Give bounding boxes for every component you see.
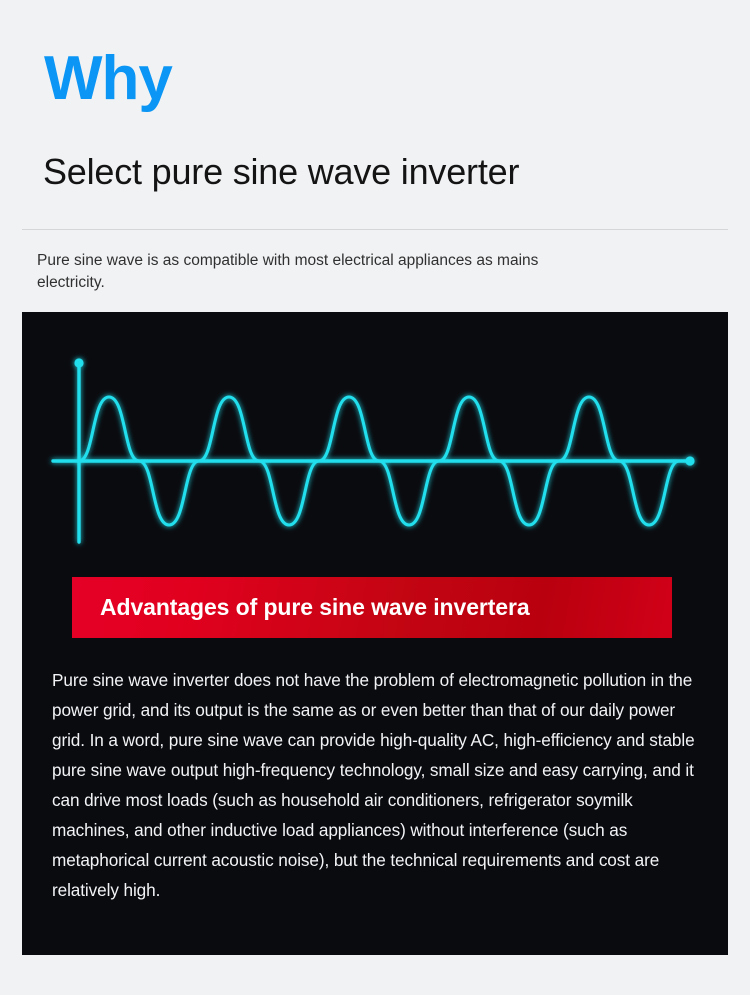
advantages-body-text: Pure sine wave inverter does not have th… [52,665,704,905]
advantages-body: Pure sine wave inverter does not have th… [52,665,704,905]
page-title: Select pure sine wave inverter [43,152,519,192]
chart-y-axis-end-dot [74,358,83,367]
advantages-banner: Advantages of pure sine wave invertera [72,577,672,638]
chart-x-axis-end-dot [685,456,694,465]
eyebrow-heading: Why [44,48,172,110]
header-divider [22,229,728,230]
sine-wave-chart [22,312,728,562]
intro-paragraph: Pure sine wave is as compatible with mos… [37,250,597,295]
product-detail-page: Why Select pure sine wave inverter Pure … [0,0,750,995]
dark-content-panel: Advantages of pure sine wave invertera P… [22,312,728,955]
advantages-banner-label: Advantages of pure sine wave invertera [100,594,530,621]
